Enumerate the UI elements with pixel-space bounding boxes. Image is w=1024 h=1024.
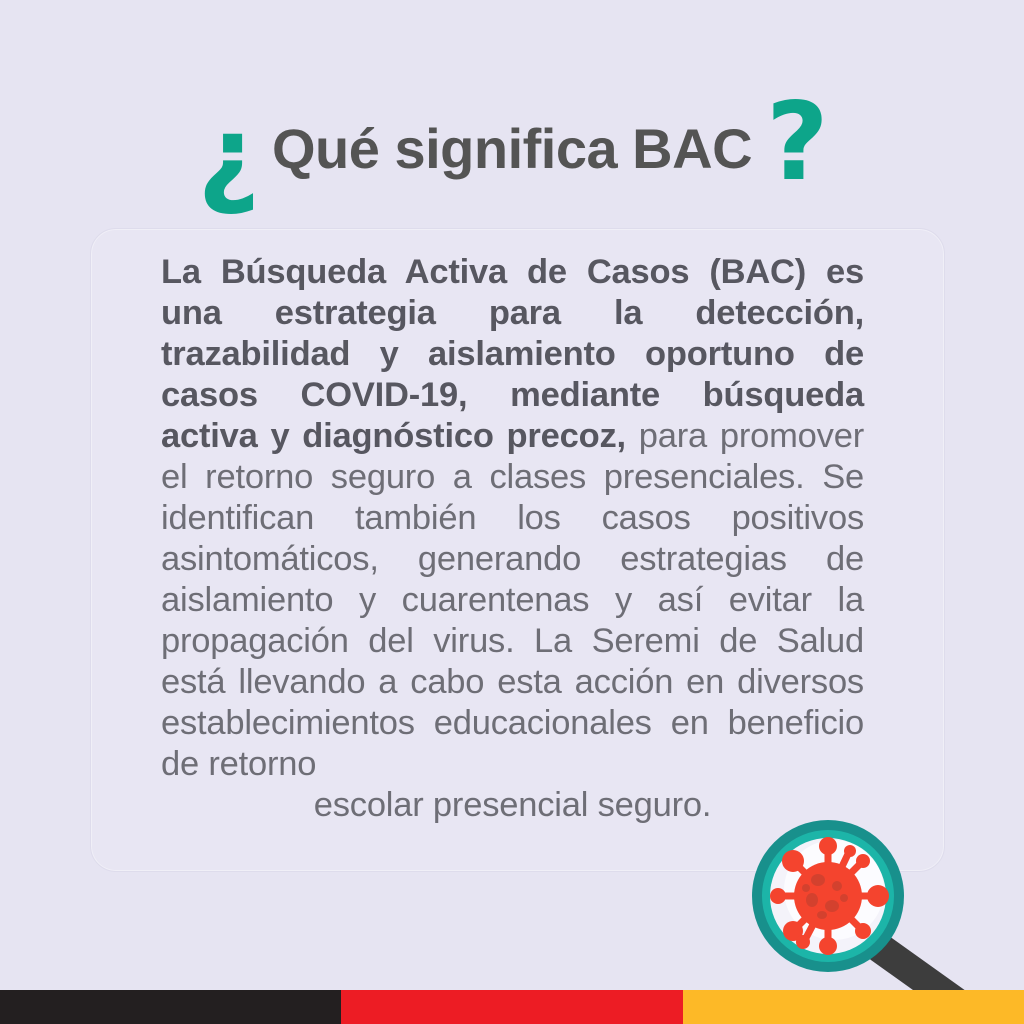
body-regular-segment: para promover el retorno seguro a clases…	[161, 417, 864, 783]
virus-spots	[802, 874, 848, 919]
page-title-text: Qué significa BAC	[272, 121, 752, 177]
inverted-question-mark-icon: ¿	[197, 103, 258, 211]
bottom-bar-segment-yellow	[683, 990, 1024, 1024]
page-title: ¿ Qué significa BAC ?	[0, 92, 1024, 202]
body-last-line: escolar presencial seguro.	[161, 785, 864, 826]
bottom-color-bar	[0, 990, 1024, 1024]
virus-body	[794, 862, 862, 930]
question-mark-icon: ?	[766, 89, 827, 197]
poster-canvas: ¿ Qué significa BAC ? La Búsqueda Activa…	[0, 0, 1024, 1024]
body-paragraph: La Búsqueda Activa de Casos (BAC) es una…	[161, 252, 864, 826]
bottom-bar-segment-black	[0, 990, 341, 1024]
bottom-bar-segment-red	[341, 990, 683, 1024]
